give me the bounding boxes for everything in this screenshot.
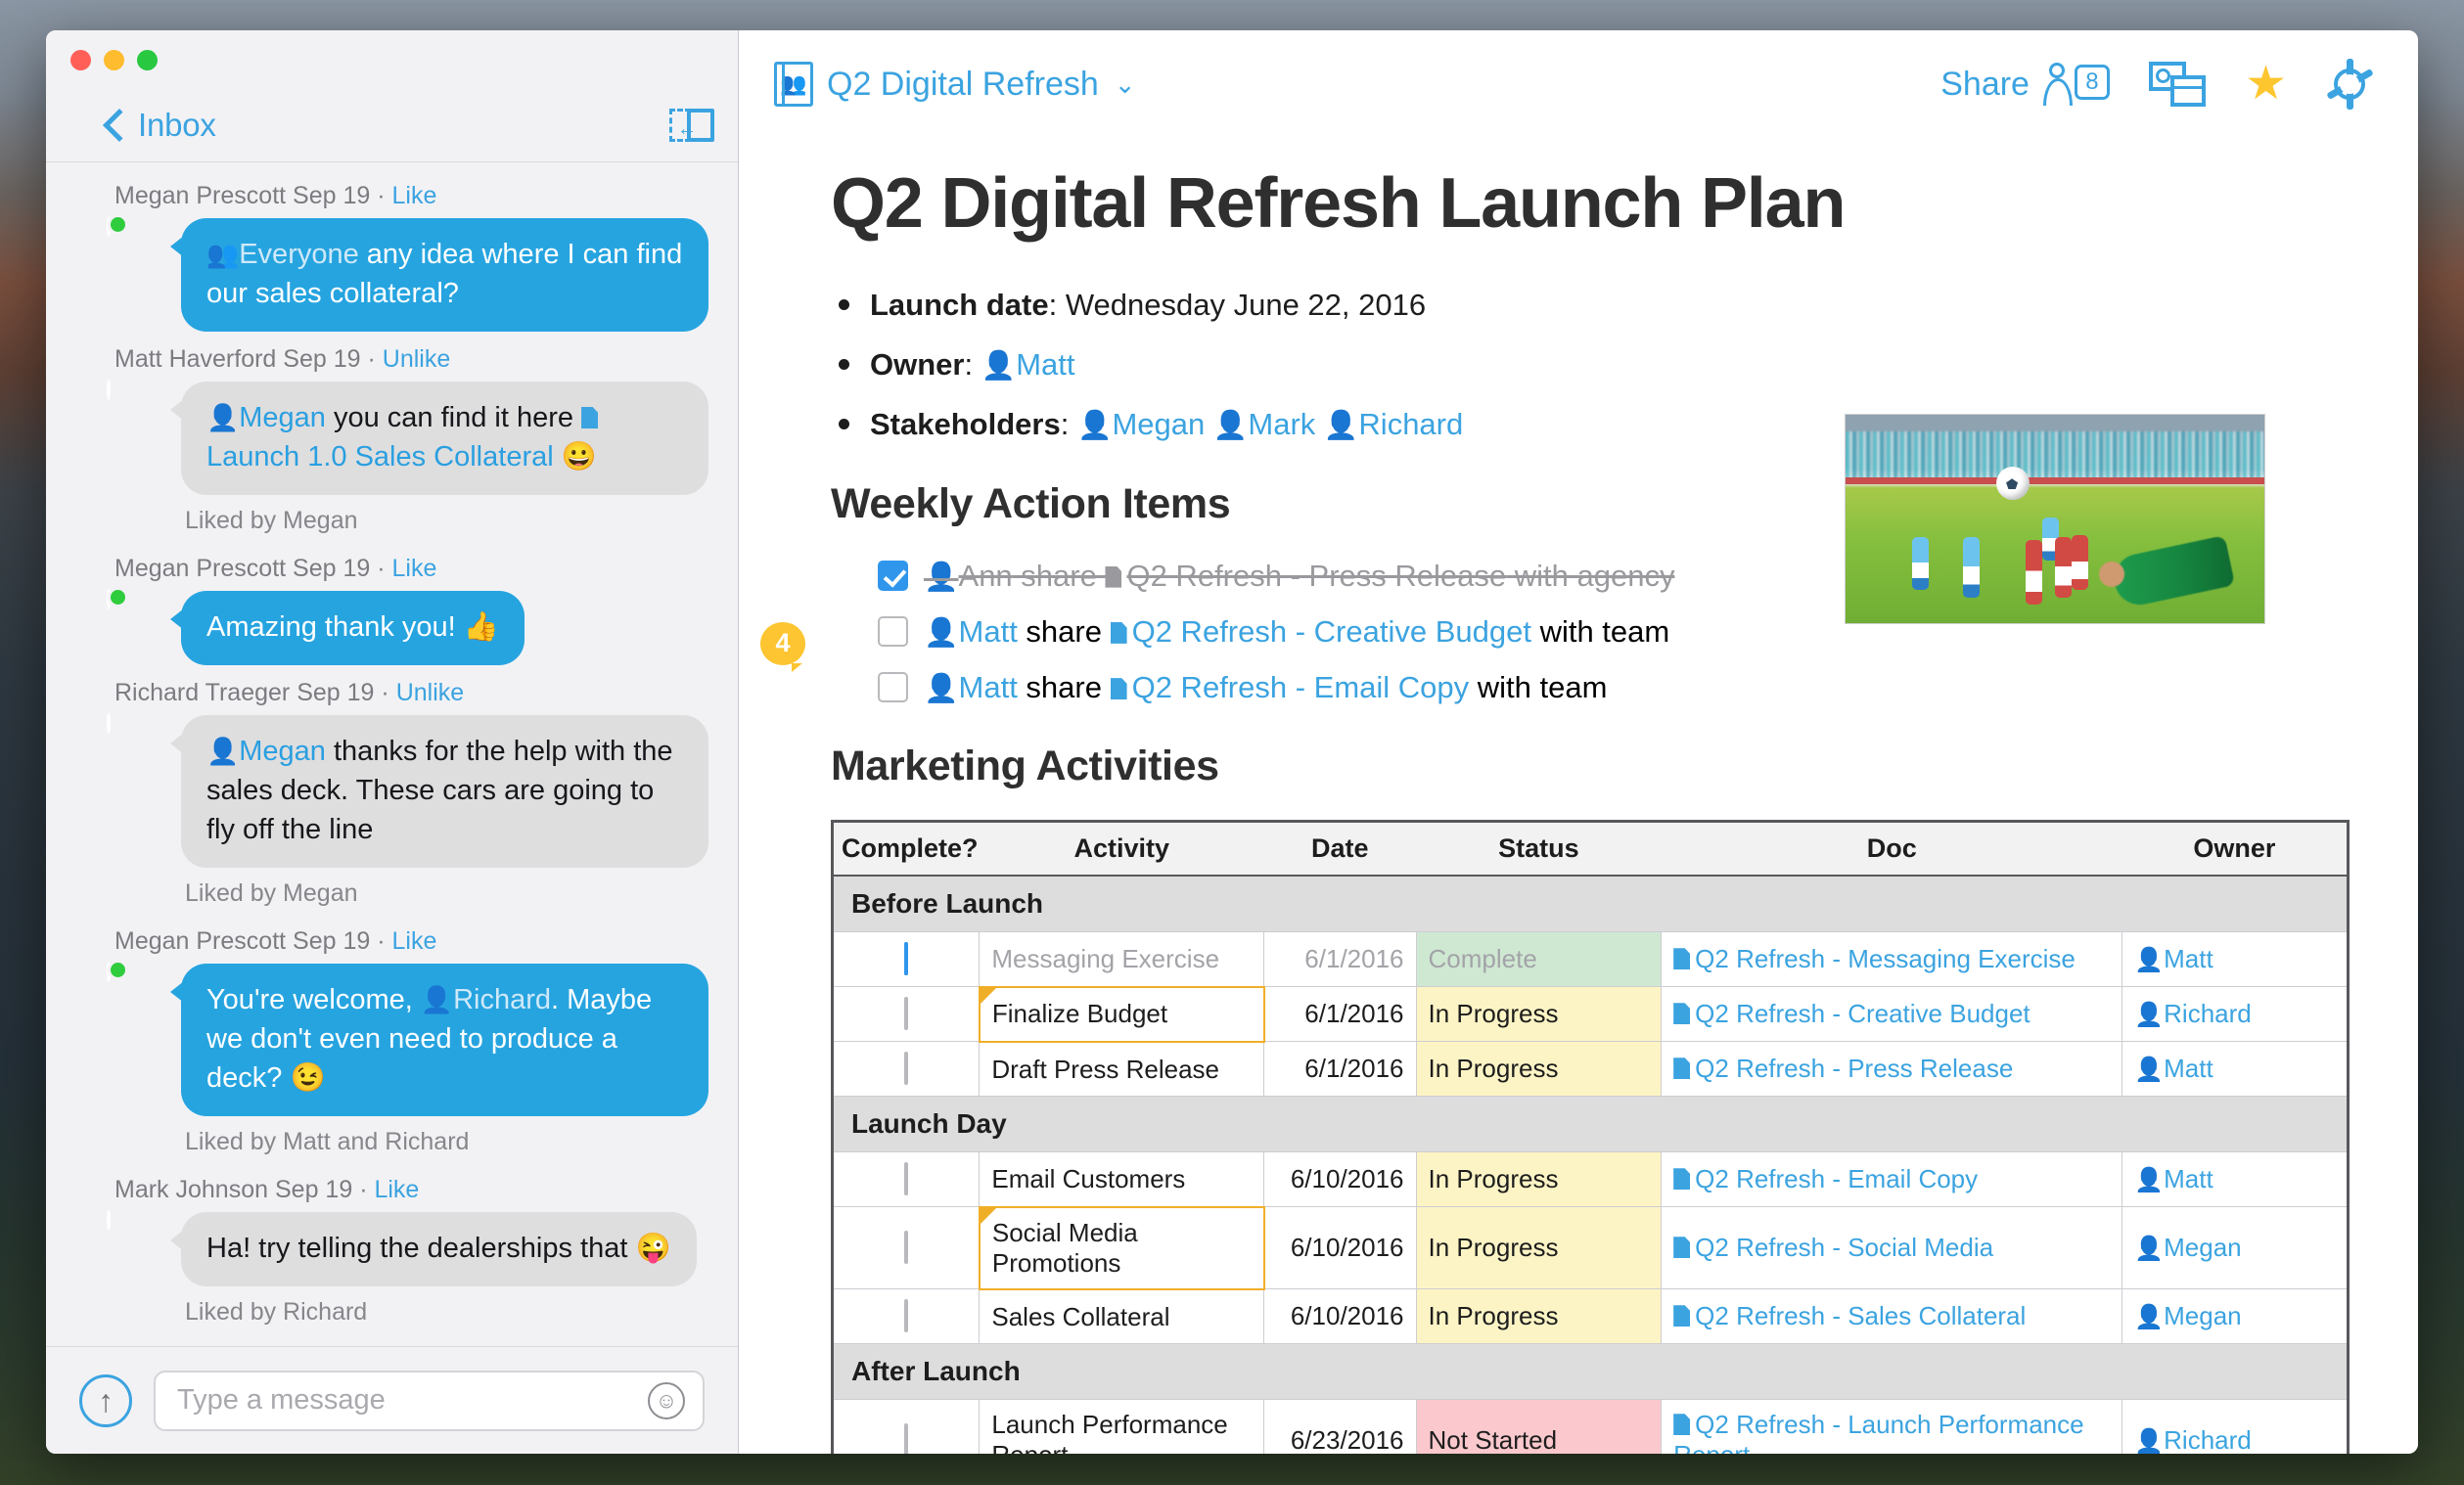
meta-owner: Owner: 👤Matt xyxy=(831,346,2418,382)
row-doc-cell[interactable]: Q2 Refresh - Email Copy xyxy=(1662,1152,2122,1207)
message-meta: Megan Prescott Sep 19 · Like xyxy=(107,170,708,218)
row-date[interactable]: 6/1/2016 xyxy=(1264,987,1416,1042)
row-date[interactable]: 6/10/2016 xyxy=(1264,1289,1416,1344)
col-owner: Owner xyxy=(2122,822,2349,877)
message-author: Mark Johnson xyxy=(114,1176,268,1203)
emoji: 😉 xyxy=(290,1062,325,1094)
doc-icon xyxy=(1673,1305,1690,1327)
chat-panel: Inbox ← Megan Prescott Sep 19 · Like xyxy=(46,30,739,1454)
message-author: Matt Haverford xyxy=(114,345,276,373)
row-doc-link[interactable]: Q2 Refresh - Launch Performance Report xyxy=(1673,1410,2083,1454)
message-meta: Richard Traeger Sep 19 · Unlike xyxy=(107,667,708,715)
message-date: Sep 19 xyxy=(293,555,370,582)
table-row[interactable]: Launch Performance Report 6/23/2016 Not … xyxy=(833,1400,2349,1454)
meta-sep: : xyxy=(964,347,981,382)
row-owner[interactable]: Megan xyxy=(2164,1233,2242,1262)
avatar[interactable] xyxy=(107,382,167,399)
row-owner[interactable]: Matt xyxy=(2164,944,2213,973)
col-status: Status xyxy=(1416,822,1662,877)
row-date[interactable]: 6/1/2016 xyxy=(1264,932,1416,987)
row-status[interactable]: Complete xyxy=(1416,932,1662,987)
row-owner-cell[interactable]: 👤Megan xyxy=(2122,1207,2349,1289)
avatar[interactable] xyxy=(107,715,167,733)
row-complete-cell[interactable] xyxy=(833,1042,980,1097)
group-label: After Launch xyxy=(833,1344,2349,1400)
row-doc-cell[interactable]: Q2 Refresh - Social Media xyxy=(1662,1207,2122,1289)
row-checkbox[interactable] xyxy=(904,1162,908,1195)
action-items-list: 4 👤Ann share Q2 Refresh - Press Release … xyxy=(831,558,2418,706)
marketing-activities-table[interactable]: Complete? Activity Date Status Doc Owner… xyxy=(831,820,2350,1454)
message-item: Megan Prescott Sep 19 · Like You're welc… xyxy=(46,916,738,1162)
message-item: Richard Traeger Sep 19 · Unlike 👤Megan t… xyxy=(46,667,738,914)
people-count-icon[interactable]: 8 xyxy=(2045,61,2110,108)
row-status[interactable]: Not Started xyxy=(1416,1400,1662,1454)
row-owner[interactable]: Megan xyxy=(2164,1301,2242,1330)
row-date[interactable]: 6/10/2016 xyxy=(1264,1152,1416,1207)
person-mention-icon: 👤 xyxy=(981,350,1017,382)
table-row[interactable]: Email Customers 6/10/2016 In Progress Q2… xyxy=(833,1152,2349,1207)
row-owner[interactable]: Richard xyxy=(2164,1425,2252,1454)
online-status-dot xyxy=(108,214,128,235)
row-activity[interactable]: Launch Performance Report xyxy=(980,1400,1264,1454)
row-owner[interactable]: Matt xyxy=(2164,1054,2213,1083)
star-icon[interactable]: ★ xyxy=(2245,61,2287,108)
row-activity[interactable]: Messaging Exercise xyxy=(980,932,1264,987)
emoji-smiley-icon[interactable]: ☺ xyxy=(648,1382,685,1419)
person-mention-icon: 👤 xyxy=(206,737,239,766)
row-owner[interactable]: Matt xyxy=(2164,1164,2213,1193)
unlike-link[interactable]: Unlike xyxy=(383,345,450,373)
action-item-checkbox[interactable] xyxy=(878,616,908,647)
like-link[interactable]: Like xyxy=(392,182,437,209)
doc-icon xyxy=(1673,1057,1690,1079)
stakeholder-mention[interactable]: Richard xyxy=(1358,407,1463,441)
doc-icon xyxy=(1673,1168,1690,1190)
emoji: 😜 xyxy=(635,1233,670,1264)
message-meta: Megan Prescott Sep 19 · Like xyxy=(107,916,708,964)
emoji: 😀 xyxy=(562,441,597,472)
group-label: Before Launch xyxy=(833,876,2349,932)
row-doc-link[interactable]: Q2 Refresh - Messaging Exercise xyxy=(1695,944,2076,973)
action-verb: share xyxy=(1013,559,1106,593)
row-doc-cell[interactable]: Q2 Refresh - Press Release xyxy=(1662,1042,2122,1097)
message-bubble[interactable]: Amazing thank you! 👍 xyxy=(181,591,525,665)
inbox-back-link[interactable]: Inbox xyxy=(138,107,216,144)
person-mention-icon: 👤 xyxy=(1213,410,1249,441)
row-checkbox[interactable] xyxy=(904,1231,908,1264)
action-tail: with team xyxy=(1531,614,1669,649)
person-mention-icon: 👤 xyxy=(1324,410,1359,441)
person-mention-icon: 👤 xyxy=(924,562,959,593)
row-owner-cell[interactable]: 👤Megan xyxy=(2122,1289,2349,1344)
action-doc-link[interactable]: Q2 Refresh - Creative Budget xyxy=(1132,614,1531,649)
row-complete-cell[interactable] xyxy=(833,1152,980,1207)
row-owner-cell[interactable]: 👤Richard xyxy=(2122,987,2349,1042)
window-traffic-lights xyxy=(46,30,738,89)
online-status-dot xyxy=(108,587,128,607)
stakeholder-mention[interactable]: Mark xyxy=(1248,407,1315,441)
message-meta-sep: · xyxy=(368,345,376,373)
row-checkbox[interactable] xyxy=(904,1299,908,1332)
document-panel: 👥 Q2 Digital Refresh ⌄ Share 8 ★ xyxy=(739,30,2418,1454)
message-input-placeholder: Type a message xyxy=(177,1384,386,1417)
action-item-checkbox[interactable] xyxy=(878,672,908,702)
message-date: Sep 19 xyxy=(293,182,370,209)
row-doc-link[interactable]: Q2 Refresh - Press Release xyxy=(1695,1054,2013,1083)
like-link[interactable]: Like xyxy=(392,927,437,955)
row-doc-cell[interactable]: Q2 Refresh - Messaging Exercise xyxy=(1662,932,2122,987)
action-item-checkbox[interactable] xyxy=(878,561,908,591)
row-checkbox[interactable] xyxy=(904,997,908,1030)
row-status[interactable]: In Progress xyxy=(1416,1042,1662,1097)
row-doc-link[interactable]: Q2 Refresh - Social Media xyxy=(1695,1233,1993,1262)
row-date[interactable]: 6/23/2016 xyxy=(1264,1400,1416,1454)
row-activity[interactable]: Draft Press Release xyxy=(980,1042,1264,1097)
avatar[interactable] xyxy=(107,591,167,608)
minimize-window-button[interactable] xyxy=(104,50,124,70)
col-activity: Activity xyxy=(980,822,1264,877)
unlike-link[interactable]: Unlike xyxy=(396,679,464,706)
message-item: Megan Prescott Sep 19 · Like 👥Everyone a… xyxy=(46,170,738,332)
person-mention-icon: 👤 xyxy=(421,985,453,1014)
action-doc-link[interactable]: Q2 Refresh - Email Copy xyxy=(1132,670,1470,704)
message-date: Sep 19 xyxy=(275,1176,352,1203)
doc-icon xyxy=(1105,566,1121,588)
action-person[interactable]: Matt xyxy=(959,614,1018,649)
message-list[interactable]: Megan Prescott Sep 19 · Like 👥Everyone a… xyxy=(46,162,738,1346)
row-complete-cell[interactable] xyxy=(833,1400,980,1454)
table-group-row: Launch Day xyxy=(833,1097,2349,1152)
comment-count-badge[interactable]: 4 xyxy=(760,622,805,665)
avatar[interactable] xyxy=(107,218,167,236)
table-row[interactable]: Finalize Budget 6/1/2016 In Progress Q2 … xyxy=(833,987,2349,1042)
toolbar-actions: Share 8 ★ xyxy=(1940,61,2373,108)
message-meta-sep: · xyxy=(377,182,385,209)
person-mention-icon: 👤 xyxy=(2134,1002,2164,1028)
message-meta-sep: · xyxy=(359,1176,367,1203)
row-activity[interactable]: Finalize Budget xyxy=(980,987,1264,1042)
message-bubble[interactable]: 👤Megan you can find it here Launch 1.0 S… xyxy=(181,382,708,495)
row-doc-link[interactable]: Q2 Refresh - Email Copy xyxy=(1695,1164,1978,1193)
mention[interactable]: Everyone xyxy=(239,239,359,270)
person-mention-icon: 👤 xyxy=(1077,410,1113,441)
collapse-panel-icon[interactable]: ← xyxy=(669,106,714,145)
message-meta-sep: · xyxy=(381,679,388,706)
liked-by-label: Liked by Richard xyxy=(107,1286,708,1332)
person-mention-icon: 👤 xyxy=(924,673,959,704)
row-status[interactable]: In Progress xyxy=(1416,1289,1662,1344)
message-composer: ↑ Type a message ☺ xyxy=(46,1346,738,1454)
message-text: you can find it here xyxy=(326,402,581,433)
row-owner-cell[interactable]: 👤Richard xyxy=(2122,1400,2349,1454)
message-input[interactable]: Type a message ☺ xyxy=(154,1371,705,1431)
row-checkbox[interactable] xyxy=(904,942,908,975)
row-status[interactable]: In Progress xyxy=(1416,1152,1662,1207)
doc-icon xyxy=(1673,1237,1690,1258)
online-status-dot xyxy=(108,960,128,980)
action-verb: share xyxy=(1018,614,1111,649)
row-doc-cell[interactable]: Q2 Refresh - Launch Performance Report xyxy=(1662,1400,2122,1454)
row-complete-cell[interactable] xyxy=(833,987,980,1042)
table-group-row: Before Launch xyxy=(833,876,2349,932)
action-verb: share xyxy=(1018,670,1111,704)
row-checkbox[interactable] xyxy=(904,1423,908,1454)
row-doc-cell[interactable]: Q2 Refresh - Sales Collateral xyxy=(1662,1289,2122,1344)
share-button[interactable]: Share 8 xyxy=(1940,61,2110,108)
row-doc-link[interactable]: Q2 Refresh - Creative Budget xyxy=(1695,999,2031,1028)
mention[interactable]: Richard xyxy=(453,984,551,1015)
message-author: Megan Prescott xyxy=(114,555,286,582)
person-mention-icon: 👤 xyxy=(2134,1304,2164,1330)
message-bubble[interactable]: 👥Everyone any idea where I can find our … xyxy=(181,218,708,332)
doc-icon xyxy=(1673,1414,1690,1435)
stakeholder-mention[interactable]: Megan xyxy=(1112,407,1205,441)
row-activity[interactable]: Social Media Promotions xyxy=(980,1207,1264,1289)
doc-icon xyxy=(1111,678,1127,699)
chevron-down-icon[interactable]: ⌄ xyxy=(1115,69,1136,100)
message-bubble[interactable]: 👤Megan thanks for the help with the sale… xyxy=(181,715,708,868)
col-doc: Doc xyxy=(1662,822,2122,877)
doc-link[interactable]: Launch 1.0 Sales Collateral xyxy=(206,441,554,472)
doc-icon xyxy=(581,407,598,428)
row-doc-link[interactable]: Q2 Refresh - Sales Collateral xyxy=(1695,1301,2026,1330)
message-bubble[interactable]: Ha! try telling the dealerships that 😜 xyxy=(181,1212,697,1286)
col-date: Date xyxy=(1264,822,1416,877)
space-name: Q2 Digital Refresh xyxy=(827,66,1099,104)
meta-sep: : xyxy=(1061,407,1077,441)
person-mention-icon: 👤 xyxy=(2134,1167,2164,1193)
message-text: Amazing thank you! xyxy=(206,611,464,643)
table-row[interactable]: Social Media Promotions 6/10/2016 In Pro… xyxy=(833,1207,2349,1289)
liked-by-label: Liked by Megan xyxy=(107,495,708,541)
doc-icon xyxy=(1111,622,1127,644)
row-owner-cell[interactable]: 👤Matt xyxy=(2122,932,2349,987)
space-selector[interactable]: 👥 Q2 Digital Refresh ⌄ xyxy=(774,62,1136,107)
row-complete-cell[interactable] xyxy=(833,932,980,987)
col-complete: Complete? xyxy=(833,822,980,877)
message-text-before: You're welcome, xyxy=(206,984,421,1015)
emoji: 👍 xyxy=(464,611,499,643)
avatar[interactable] xyxy=(107,1212,167,1230)
mention[interactable]: Megan xyxy=(239,736,326,767)
table-header-row: Complete? Activity Date Status Doc Owner xyxy=(833,822,2349,877)
message-text: Ha! try telling the dealerships that xyxy=(206,1233,635,1264)
close-window-button[interactable] xyxy=(70,50,91,70)
person-mention-icon: 👤 xyxy=(2134,947,2164,973)
avatar[interactable] xyxy=(107,964,167,981)
meta-label: Owner xyxy=(870,347,964,382)
owner-mention[interactable]: Matt xyxy=(1016,347,1074,382)
back-chevron-icon[interactable] xyxy=(103,108,124,143)
row-owner-cell[interactable]: 👤Matt xyxy=(2122,1152,2349,1207)
message-date: Sep 19 xyxy=(293,927,370,955)
message-meta: Matt Haverford Sep 19 · Unlike xyxy=(107,334,708,382)
document-body[interactable]: Q2 Digital Refresh Launch Plan Launch da… xyxy=(739,138,2418,1454)
share-label: Share xyxy=(1940,66,2030,104)
row-date[interactable]: 6/10/2016 xyxy=(1264,1207,1416,1289)
message-author: Megan Prescott xyxy=(114,927,286,955)
row-activity[interactable]: Sales Collateral xyxy=(980,1289,1264,1344)
message-item: Megan Prescott Sep 19 · Like Amazing tha… xyxy=(46,543,738,665)
action-person[interactable]: Ann xyxy=(959,559,1013,593)
message-bubble[interactable]: You're welcome, 👤Richard. Maybe we don't… xyxy=(181,964,708,1116)
meta-sep: : xyxy=(1049,288,1066,322)
message-date: Sep 19 xyxy=(283,345,360,373)
message-meta-sep: · xyxy=(377,927,385,955)
doc-icon xyxy=(1673,1003,1690,1024)
row-date[interactable]: 6/1/2016 xyxy=(1264,1042,1416,1097)
doc-icon xyxy=(1673,948,1690,969)
chat-header: Inbox ← xyxy=(46,89,738,162)
table-body: Before Launch Messaging Exercise 6/1/201… xyxy=(833,876,2349,1454)
action-item-row[interactable]: 👤Matt share Q2 Refresh - Creative Budget… xyxy=(878,613,2418,650)
liked-by-label: Liked by Matt and Richard xyxy=(107,1116,708,1162)
space-book-icon: 👥 xyxy=(774,62,813,107)
row-complete-cell[interactable] xyxy=(833,1207,980,1289)
message-date: Sep 19 xyxy=(297,679,374,706)
gear-icon[interactable] xyxy=(2326,61,2373,108)
marketing-activities-table-wrap: Complete? Activity Date Status Doc Owner… xyxy=(831,820,2418,1454)
group-mention-icon: 👥 xyxy=(206,240,239,269)
table-group-row: After Launch xyxy=(833,1344,2349,1400)
row-status[interactable]: In Progress xyxy=(1416,987,1662,1042)
row-activity[interactable]: Email Customers xyxy=(980,1152,1264,1207)
person-mention-icon: 👤 xyxy=(2134,1236,2164,1262)
action-item-row[interactable]: 👤Ann share Q2 Refresh - Press Release wi… xyxy=(878,558,2418,594)
person-mention-icon: 👤 xyxy=(206,403,239,432)
meta-value: Wednesday June 22, 2016 xyxy=(1066,288,1426,322)
action-doc-link[interactable]: Q2 Refresh - Press Release xyxy=(1126,559,1506,593)
app-window: Inbox ← Megan Prescott Sep 19 · Like xyxy=(46,30,2418,1454)
action-tail: with team xyxy=(1469,670,1607,704)
layout-gallery-icon[interactable] xyxy=(2149,62,2206,107)
row-status[interactable]: In Progress xyxy=(1416,1207,1662,1289)
row-owner[interactable]: Richard xyxy=(2164,999,2252,1028)
meta-label: Stakeholders xyxy=(870,407,1061,441)
liked-by-label: Liked by Megan xyxy=(107,868,708,914)
table-row[interactable]: Sales Collateral 6/10/2016 In Progress Q… xyxy=(833,1289,2349,1344)
action-person[interactable]: Matt xyxy=(959,670,1018,704)
row-owner-cell[interactable]: 👤Matt xyxy=(2122,1042,2349,1097)
like-link[interactable]: Like xyxy=(392,555,437,582)
send-up-arrow-icon[interactable]: ↑ xyxy=(79,1374,132,1427)
message-meta: Mark Johnson Sep 19 · Like xyxy=(107,1164,708,1212)
message-item: Matt Haverford Sep 19 · Unlike 👤Megan yo… xyxy=(46,334,738,541)
like-link[interactable]: Like xyxy=(374,1176,419,1203)
message-author: Richard Traeger xyxy=(114,679,290,706)
table-row[interactable]: Draft Press Release 6/1/2016 In Progress… xyxy=(833,1042,2349,1097)
message-author: Megan Prescott xyxy=(114,182,286,209)
table-row[interactable]: Messaging Exercise 6/1/2016 Complete Q2 … xyxy=(833,932,2349,987)
row-checkbox[interactable] xyxy=(904,1052,908,1085)
person-mention-icon: 👤 xyxy=(924,617,959,649)
meta-label: Launch date xyxy=(870,288,1049,322)
action-tail: with agency xyxy=(1506,559,1674,593)
row-doc-cell[interactable]: Q2 Refresh - Creative Budget xyxy=(1662,987,2122,1042)
person-mention-icon: 👤 xyxy=(2134,1428,2164,1454)
group-label: Launch Day xyxy=(833,1097,2349,1152)
row-complete-cell[interactable] xyxy=(833,1289,980,1344)
action-item-row[interactable]: 👤Matt share Q2 Refresh - Email Copy with… xyxy=(878,669,2418,705)
person-mention-icon: 👤 xyxy=(2134,1057,2164,1083)
page-title: Q2 Digital Refresh Launch Plan xyxy=(831,163,2418,244)
message-meta-sep: · xyxy=(377,555,385,582)
meta-launch-date: Launch date: Wednesday June 22, 2016 xyxy=(831,287,2418,323)
message-meta: Megan Prescott Sep 19 · Like xyxy=(107,543,708,591)
section-heading-marketing: Marketing Activities xyxy=(831,742,2418,790)
message-item: Mark Johnson Sep 19 · Like Ha! try telli… xyxy=(46,1164,738,1332)
document-toolbar: 👥 Q2 Digital Refresh ⌄ Share 8 ★ xyxy=(739,30,2418,138)
share-count: 8 xyxy=(2075,65,2110,100)
maximize-window-button[interactable] xyxy=(137,50,158,70)
mention[interactable]: Megan xyxy=(239,402,326,433)
